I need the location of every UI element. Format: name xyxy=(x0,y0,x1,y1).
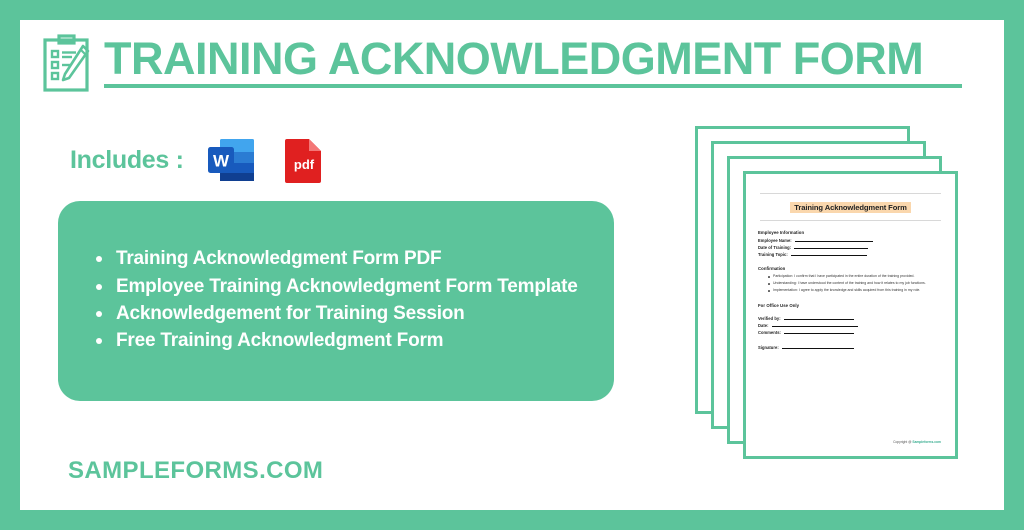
list-item[interactable]: Acknowledgement for Training Session xyxy=(92,301,588,326)
list-item[interactable]: Free Training Acknowledgment Form xyxy=(92,328,588,353)
doc-confirmation-item: Participation: I confirm that I have par… xyxy=(768,274,943,279)
includes-row: Includes : W pdf xyxy=(70,135,328,185)
doc-copyright: Copyright @ Sampleforms.com xyxy=(893,440,941,444)
doc-field-label: Date of Training: xyxy=(758,245,791,250)
word-doc-icon[interactable]: W xyxy=(206,135,256,185)
doc-confirmation-item: Implementation: I agree to apply the kno… xyxy=(768,288,943,293)
list-item[interactable]: Training Acknowledgment Form PDF xyxy=(92,246,588,271)
clipboard-checklist-pencil-icon xyxy=(42,34,94,94)
doc-field-date-of-training: Date of Training: xyxy=(758,245,943,250)
doc-section-confirmation: Confirmation xyxy=(758,266,943,271)
doc-field-verified-by: Verified by: xyxy=(758,316,943,321)
doc-field-rule[interactable] xyxy=(795,241,873,242)
doc-field-rule[interactable] xyxy=(784,319,854,320)
doc-copyright-site[interactable]: Sampleforms.com xyxy=(912,440,941,444)
doc-field-label: Date: xyxy=(758,323,769,328)
doc-field-label: Training Topic: xyxy=(758,252,788,257)
svg-text:W: W xyxy=(213,152,230,171)
title-underline xyxy=(104,84,962,88)
doc-field-label: Employee Name: xyxy=(758,238,792,243)
doc-field-rule[interactable] xyxy=(782,348,854,349)
svg-text:pdf: pdf xyxy=(294,157,315,172)
doc-section-office-use: For Office Use Only xyxy=(758,303,943,308)
doc-title: Training Acknowledgment Form xyxy=(790,202,911,213)
doc-field-rule[interactable] xyxy=(794,248,868,249)
doc-title-rule-bottom xyxy=(760,220,941,221)
page-title: TRAINING ACKNOWLEDGMENT FORM xyxy=(104,36,962,82)
includes-list-card: Training Acknowledgment Form PDF Employe… xyxy=(58,201,614,401)
doc-confirmation-list: Participation: I confirm that I have par… xyxy=(758,274,943,293)
doc-field-label: Verified by: xyxy=(758,316,781,321)
doc-field-rule[interactable] xyxy=(772,326,858,327)
doc-field-date: Date: xyxy=(758,323,943,328)
poster-inner-white-area: TRAINING ACKNOWLEDGMENT FORM Includes : … xyxy=(20,20,1004,510)
doc-title-rule-top xyxy=(760,193,941,194)
doc-field-rule[interactable] xyxy=(791,255,867,256)
poster-canvas: TRAINING ACKNOWLEDGMENT FORM Includes : … xyxy=(0,0,1024,530)
list-item[interactable]: Employee Training Acknowledgment Form Te… xyxy=(92,274,588,299)
doc-confirmation-item: Understanding: I have understood the con… xyxy=(768,281,943,286)
document-preview-stack: Training Acknowledgment Form Employee In… xyxy=(695,126,975,474)
poster-header: TRAINING ACKNOWLEDGMENT FORM xyxy=(42,28,962,100)
doc-field-comments: Comments: xyxy=(758,330,943,335)
page-title-wrap: TRAINING ACKNOWLEDGMENT FORM xyxy=(104,36,962,92)
doc-field-rule[interactable] xyxy=(784,333,854,334)
document-sheet-front[interactable]: Training Acknowledgment Form Employee In… xyxy=(743,171,958,459)
doc-section-employee-information: Employee Information xyxy=(758,230,943,235)
pdf-file-icon[interactable]: pdf xyxy=(278,135,328,185)
doc-copyright-prefix: Copyright @ xyxy=(893,440,912,444)
doc-field-label: Comments: xyxy=(758,330,781,335)
brand-footer: SAMPLEFORMS.COM xyxy=(68,457,323,485)
includes-list: Training Acknowledgment Form PDF Employe… xyxy=(92,246,588,355)
includes-label: Includes : xyxy=(70,146,184,175)
doc-field-signature: Signature: xyxy=(758,345,943,350)
document-page-content: Training Acknowledgment Form Employee In… xyxy=(746,174,955,456)
doc-field-training-topic: Training Topic: xyxy=(758,252,943,257)
doc-field-label: Signature: xyxy=(758,345,779,350)
doc-field-employee-name: Employee Name: xyxy=(758,238,943,243)
